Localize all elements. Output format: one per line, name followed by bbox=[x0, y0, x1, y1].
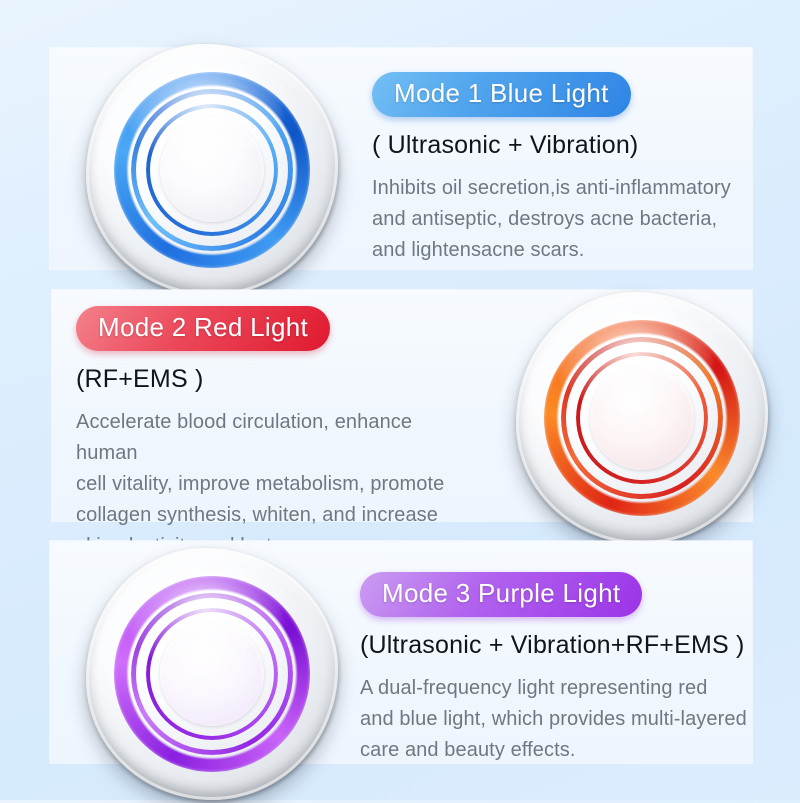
mode-1-subtitle: ( Ultrasonic + Vibration) bbox=[372, 131, 742, 160]
mode-3-text-block: Mode 3 Purple Light (Ultrasonic + Vibrat… bbox=[360, 572, 750, 766]
infographic-stage: Mode 1 Blue Light ( Ultrasonic + Vibrati… bbox=[0, 0, 800, 800]
mode-3-subtitle: (Ultrasonic + Vibration+RF+EMS ) bbox=[360, 631, 750, 660]
mode-2-text-block: Mode 2 Red Light (RF+EMS ) Accelerate bl… bbox=[76, 306, 476, 562]
mode-2-badge[interactable]: Mode 2 Red Light bbox=[76, 306, 330, 351]
purple-light-device bbox=[86, 548, 338, 800]
mode-1-text-block: Mode 1 Blue Light ( Ultrasonic + Vibrati… bbox=[372, 72, 742, 266]
description-line: cell vitality, improve metabolism, promo… bbox=[76, 469, 476, 500]
device-center-disc bbox=[590, 366, 694, 470]
mode-3-badge[interactable]: Mode 3 Purple Light bbox=[360, 572, 642, 617]
mode-2-description: Accelerate blood circulation, enhance hu… bbox=[76, 407, 476, 562]
mode-3-description: A dual-frequency light representing red … bbox=[360, 673, 750, 766]
device-center-disc bbox=[160, 622, 264, 726]
device-center-disc bbox=[160, 118, 264, 222]
red-light-device bbox=[516, 292, 768, 544]
description-line: and blue light, which provides multi-lay… bbox=[360, 704, 750, 735]
description-line: A dual-frequency light representing red bbox=[360, 673, 750, 704]
mode-2-subtitle: (RF+EMS ) bbox=[76, 365, 476, 394]
description-line: care and beauty effects. bbox=[360, 735, 750, 766]
mode-1-badge[interactable]: Mode 1 Blue Light bbox=[372, 72, 631, 117]
description-line: Inhibits oil secretion,is anti-inflammat… bbox=[372, 173, 742, 204]
description-line: collagen synthesis, whiten, and increase bbox=[76, 500, 476, 531]
description-line: and antiseptic, destroys acne bacteria, bbox=[372, 204, 742, 235]
description-line: and lightensacne scars. bbox=[372, 235, 742, 266]
mode-1-description: Inhibits oil secretion,is anti-inflammat… bbox=[372, 173, 742, 266]
blue-light-device bbox=[86, 44, 338, 296]
description-line: Accelerate blood circulation, enhance hu… bbox=[76, 407, 476, 469]
